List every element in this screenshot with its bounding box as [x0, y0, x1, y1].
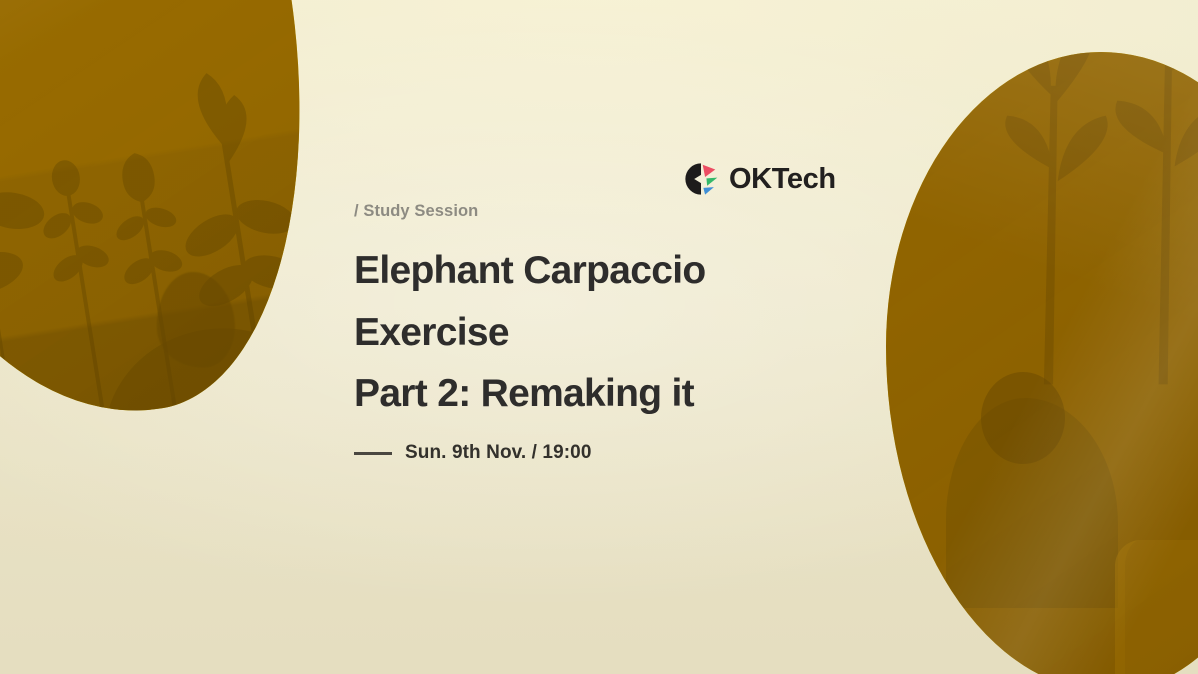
left-blob-sheen — [0, 0, 352, 447]
title-line-3: Part 2: Remaking it — [354, 363, 824, 425]
slide-content: OKTech / Study Session Elephant Carpacci… — [354, 0, 874, 674]
schedule-bar: Sun. 9th Nov. / 19:00 — [354, 442, 592, 464]
left-gold-blob-photo — [0, 0, 352, 447]
brand-logo: OKTech — [684, 162, 836, 196]
session-eyebrow-label: / Study Session — [354, 202, 478, 221]
page-title: Elephant Carpaccio Exercise Part 2: Rema… — [354, 240, 824, 425]
schedule-rule — [354, 452, 392, 455]
brand-name: OKTech — [729, 165, 836, 194]
presentation-slide: OKTech / Study Session Elephant Carpacci… — [0, 0, 1198, 674]
oktech-pie-logo-icon — [684, 162, 718, 196]
right-blob-sheen — [886, 52, 1198, 674]
schedule-datetime: Sun. 9th Nov. / 19:00 — [405, 442, 592, 464]
title-line-2: Exercise — [354, 302, 824, 364]
right-gold-oval-photo — [886, 52, 1198, 674]
title-line-1: Elephant Carpaccio — [354, 240, 824, 302]
